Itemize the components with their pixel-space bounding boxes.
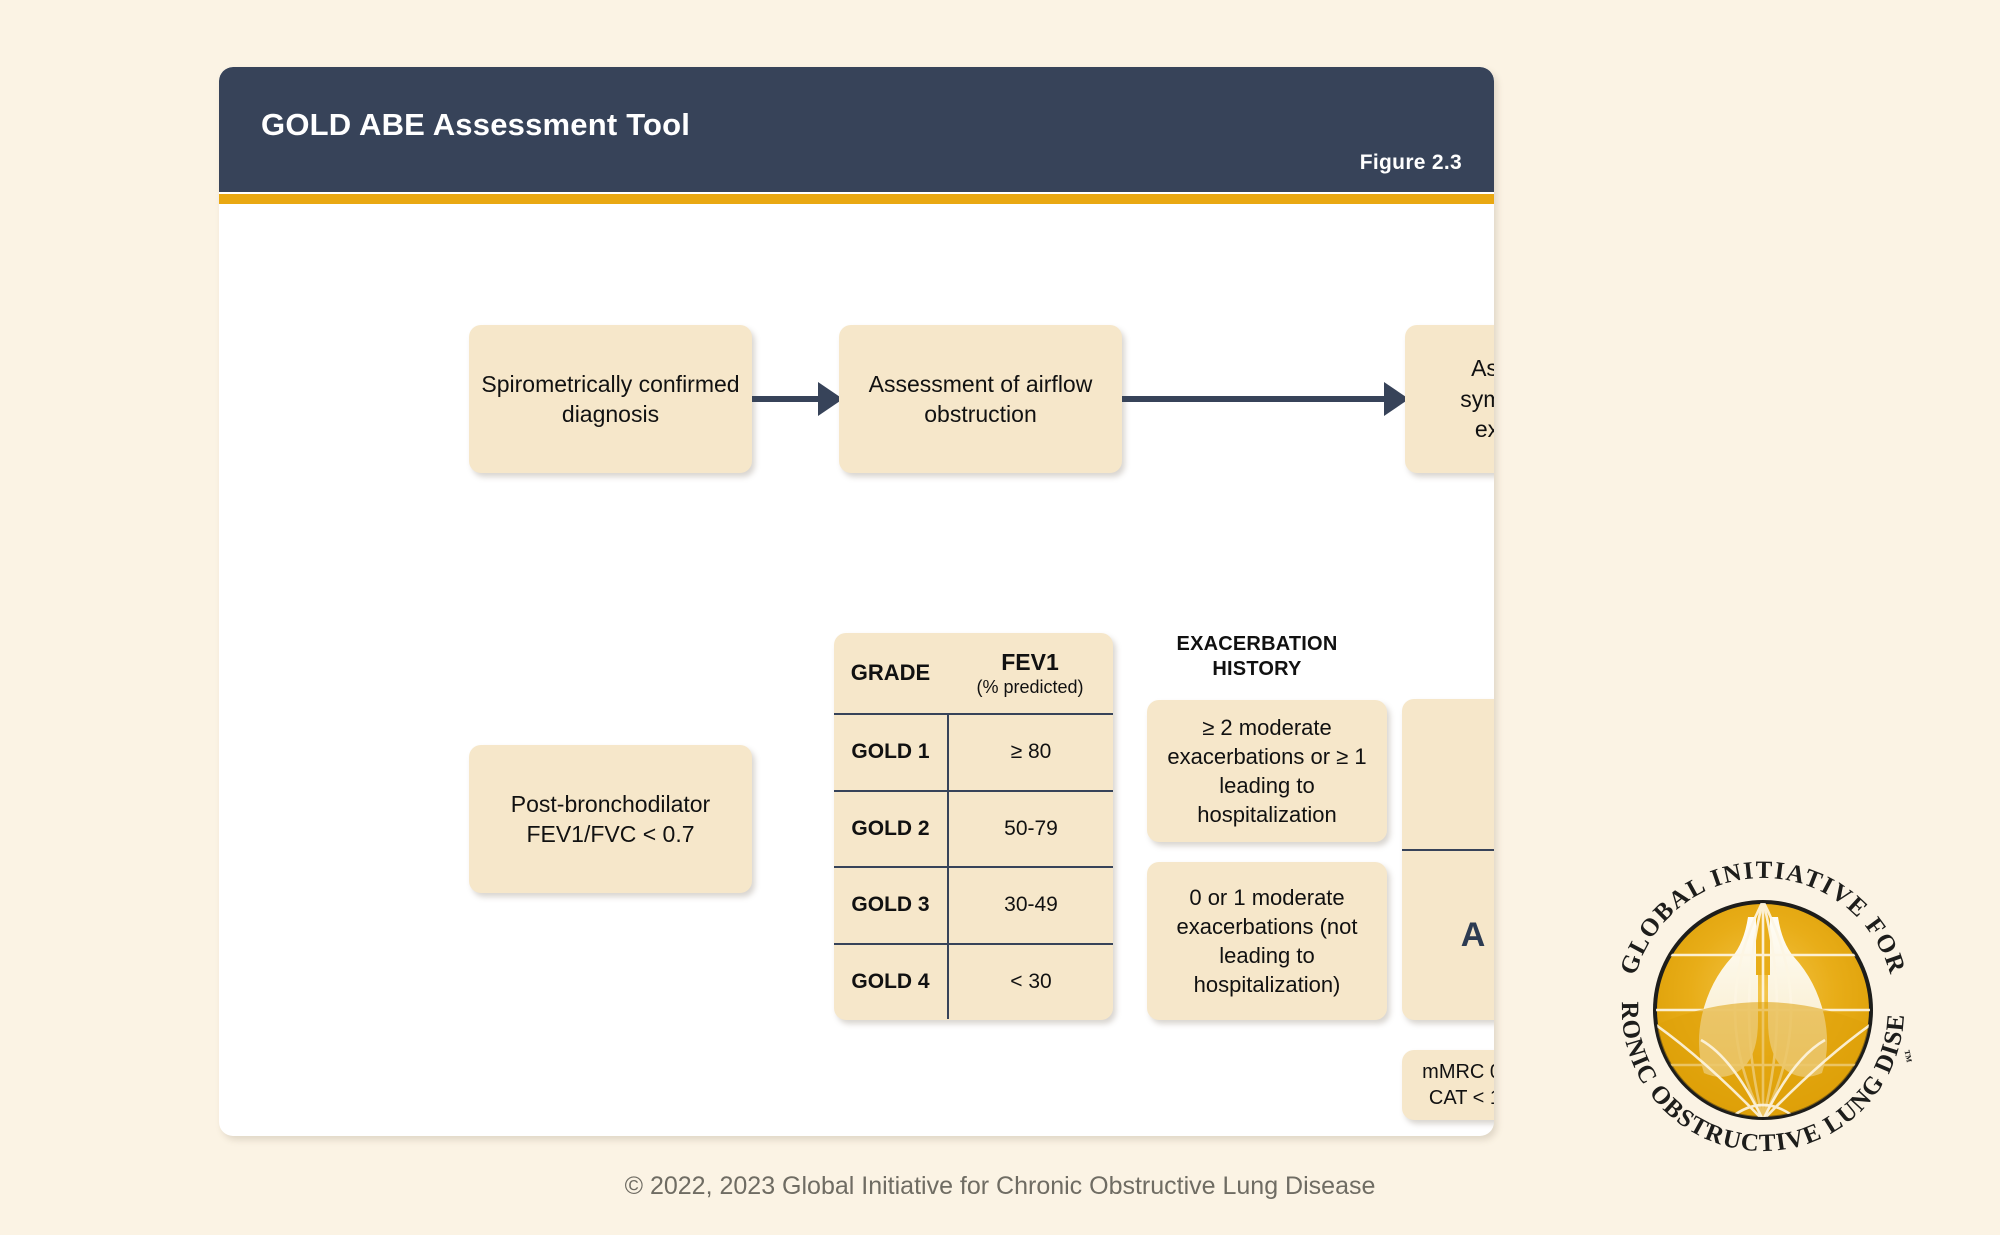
flow-box-symptoms-risk: Assessment of symptoms/risk of exacerbat… bbox=[1405, 325, 1494, 473]
abe-cell-e: E bbox=[1402, 699, 1494, 849]
grade-cell: GOLD 3 bbox=[834, 868, 947, 943]
symptom-box-low: mMRC 0-1 CAT < 10 bbox=[1402, 1050, 1494, 1120]
flow-box-airflow-obstruction: Assessment of airflow obstruction bbox=[839, 325, 1122, 473]
gold-logo-svg: GLOBAL INITIATIVE FOR CHRONIC OBSTRUCTIV… bbox=[1598, 845, 1928, 1175]
grade-cell: GOLD 2 bbox=[834, 792, 947, 867]
column-header-fev1: FEV1 (% predicted) bbox=[947, 633, 1113, 713]
flow-arrow-2 bbox=[1122, 384, 1409, 414]
figure-header: GOLD ABE Assessment Tool Figure 2.3 bbox=[219, 67, 1494, 192]
exacerbation-box-high-risk: ≥ 2 moderate exacerbations or ≥ 1 leadin… bbox=[1147, 700, 1387, 842]
flow-box-spirometry: Spirometrically confirmed diagnosis bbox=[469, 325, 752, 473]
symptom-cat-low: CAT < 10 bbox=[1422, 1085, 1494, 1111]
figure-card: GOLD ABE Assessment Tool Figure 2.3 Spir… bbox=[219, 67, 1494, 1136]
grade-cell: GOLD 4 bbox=[834, 945, 947, 1020]
fev1-cell: < 30 bbox=[947, 945, 1113, 1020]
fev1-cell: 50-79 bbox=[947, 792, 1113, 867]
symptom-mmrc-low: mMRC 0-1 bbox=[1422, 1059, 1494, 1085]
post-bronchodilator-box: Post-bronchodilator FEV1/FVC < 0.7 bbox=[469, 745, 752, 893]
logo-trademark: ™ bbox=[1898, 1049, 1915, 1065]
page-title: GOLD ABE Assessment Tool bbox=[261, 107, 690, 143]
column-header-grade: GRADE bbox=[834, 633, 947, 713]
fev1-title: FEV1 bbox=[1001, 649, 1059, 676]
fev1-cell: 30-49 bbox=[947, 868, 1113, 943]
copyright-footer: © 2022, 2023 Global Initiative for Chron… bbox=[0, 1172, 2000, 1201]
fev1-subtitle: (% predicted) bbox=[976, 677, 1083, 698]
grade-fev1-table: GRADE FEV1 (% predicted) GOLD 1 ≥ 80 GOL… bbox=[834, 633, 1113, 1020]
fev1-cell: ≥ 80 bbox=[947, 715, 1113, 790]
arrow-shaft bbox=[1122, 396, 1385, 402]
exacerbation-box-low-risk: 0 or 1 moderate exacerbations (not leadi… bbox=[1147, 862, 1387, 1020]
table-row: GOLD 4 < 30 bbox=[834, 943, 1113, 1020]
table-row: GOLD 2 50-79 bbox=[834, 790, 1113, 867]
gold-accent-bar bbox=[219, 194, 1494, 204]
grade-cell: GOLD 1 bbox=[834, 715, 947, 790]
arrow-shaft bbox=[752, 396, 819, 402]
lungs-icon bbox=[1650, 900, 1876, 1120]
exacerbation-history-label: EXACERBATION HISTORY bbox=[1137, 632, 1377, 682]
table-row: GOLD 3 30-49 bbox=[834, 866, 1113, 943]
abe-cell-a: A bbox=[1402, 851, 1494, 1020]
abe-bottom-row: A B bbox=[1402, 849, 1494, 1020]
flow-arrow-1 bbox=[752, 384, 843, 414]
table-header-row: GRADE FEV1 (% predicted) bbox=[834, 633, 1113, 713]
gold-logo: GLOBAL INITIATIVE FOR CHRONIC OBSTRUCTIV… bbox=[1598, 845, 1928, 1175]
figure-number: Figure 2.3 bbox=[1360, 151, 1462, 175]
table-row: GOLD 1 ≥ 80 bbox=[834, 713, 1113, 790]
abe-group-grid: E A B bbox=[1402, 699, 1494, 1020]
